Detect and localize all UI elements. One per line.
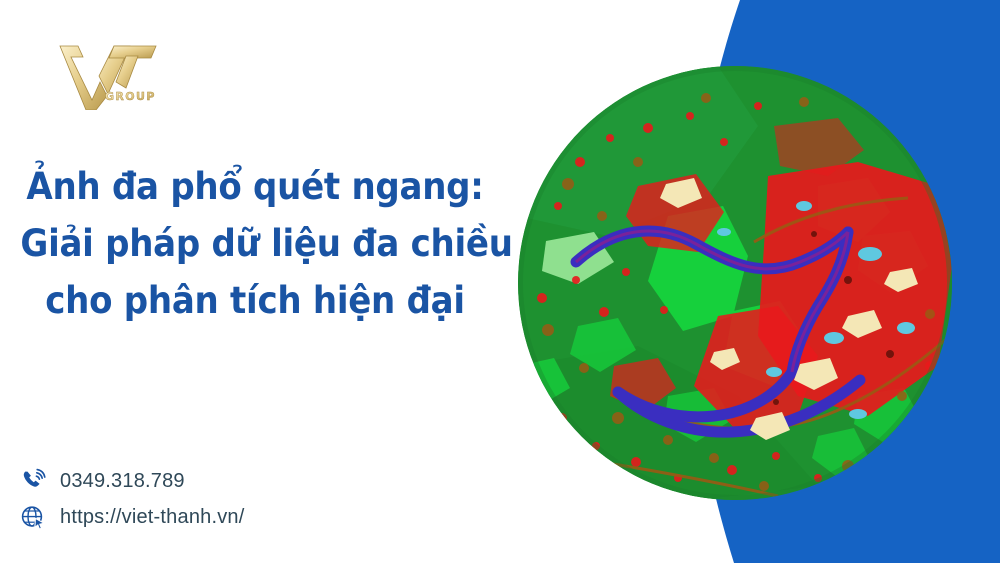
contact-phone-row[interactable]: 0349.318.789 — [20, 463, 460, 499]
headline-line-1: Ảnh đa phổ quét ngang: — [20, 158, 489, 215]
phone-ringing-icon — [20, 468, 46, 494]
contact-website-row[interactable]: https://viet-thanh.vn/ — [20, 499, 460, 535]
globe-cursor-icon — [20, 504, 46, 530]
headline-line-2: Giải pháp dữ liệu đa chiều — [20, 215, 489, 272]
satellite-image — [518, 66, 952, 500]
content-column: GROUP Ảnh đa phổ quét ngang: Giải pháp d… — [0, 0, 520, 563]
headline-line-3: cho phân tích hiện đại — [20, 272, 489, 329]
satellite-circle — [518, 66, 952, 500]
landcover-map — [518, 66, 952, 500]
website-url: https://viet-thanh.vn/ — [60, 505, 245, 529]
phone-number: 0349.318.789 — [60, 469, 185, 493]
logo-wordmark: GROUP — [105, 90, 156, 103]
page-title: Ảnh đa phổ quét ngang: Giải pháp dữ liệu… — [0, 158, 510, 329]
banner-canvas: GROUP Ảnh đa phổ quét ngang: Giải pháp d… — [0, 0, 1000, 563]
contact-block: 0349.318.789 https://viet-thanh.vn/ — [20, 463, 460, 535]
vt-group-logo[interactable]: GROUP — [52, 38, 170, 110]
vt-logo-icon: GROUP — [52, 38, 170, 110]
